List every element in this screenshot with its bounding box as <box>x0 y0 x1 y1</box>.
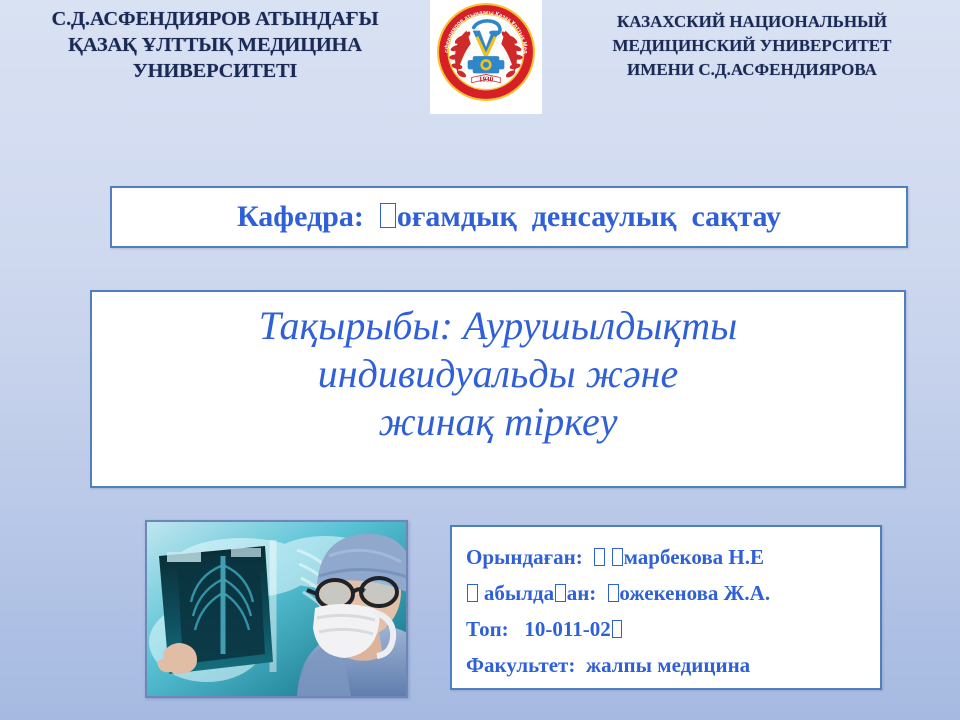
university-name-russian-line-1: КАЗАХСКИЙ НАЦИОНАЛЬНЫЙ <box>552 10 952 34</box>
author-line-supervisor: абылдаан: ожекенова Ж.А. <box>466 575 870 611</box>
missing-glyph-icon <box>555 584 566 602</box>
author-line-performer: Орындаған: марбекова Н.Е <box>466 539 870 575</box>
doctor-reading-xray-photo <box>145 520 408 698</box>
emblem-year: 1930 <box>479 76 494 84</box>
xray-photo-graphic <box>147 522 406 696</box>
author-line-group: Топ: 10-011-02 <box>466 611 870 647</box>
author-line-faculty: Факультет: жалпы медицина <box>466 647 870 683</box>
university-name-russian-line-3: ИМЕНИ С.Д.АСФЕНДИЯРОВА <box>552 58 952 82</box>
university-name-russian: КАЗАХСКИЙ НАЦИОНАЛЬНЫЙ МЕДИЦИНСКИЙ УНИВЕ… <box>552 10 952 82</box>
university-seal-emblem: С.Ж. Асфендияров атындағы Қазақ Ұлттық М… <box>435 1 537 103</box>
slide-header: С.Д.АСФЕНДИЯРОВ АТЫНДАҒЫ ҚАЗАҚ ҰЛТТЫҚ МЕ… <box>0 0 960 116</box>
performer-label: Орындаған: <box>466 545 583 569</box>
missing-glyph-icon <box>380 203 396 229</box>
title-slide: С.Д.АСФЕНДИЯРОВ АТЫНДАҒЫ ҚАЗАҚ ҰЛТТЫҚ МЕ… <box>0 0 960 720</box>
department-box: Кафедра: оғамдық денсаулық сақтау <box>110 186 908 248</box>
university-name-russian-line-2: МЕДИЦИНСКИЙ УНИВЕРСИТЕТ <box>552 34 952 58</box>
authors-box: Орындаған: марбекова Н.Е абылдаан: ожеке… <box>450 525 882 690</box>
topic-line-1: Тақырыбы: Аурушылдықты <box>106 302 890 350</box>
university-name-kazakh-line-2: ҚАЗАҚ ҰЛТТЫҚ МЕДИЦИНА <box>6 32 424 58</box>
group-label: Топ: <box>466 617 509 641</box>
university-name-kazakh-line-1: С.Д.АСФЕНДИЯРОВ АТЫНДАҒЫ <box>6 6 424 32</box>
topic-box: Тақырыбы: Аурушылдықты индивидуальды жән… <box>90 290 906 488</box>
university-name-kazakh: С.Д.АСФЕНДИЯРОВ АТЫНДАҒЫ ҚАЗАҚ ҰЛТТЫҚ МЕ… <box>6 6 424 84</box>
department-text: Кафедра: оғамдық денсаулық сақтау <box>112 200 906 234</box>
authors-list: Орындаған: марбекова Н.Е абылдаан: ожеке… <box>466 539 870 683</box>
missing-glyph-icon <box>594 548 605 566</box>
emblem-plate: С.Ж. Асфендияров атындағы Қазақ Ұлттық М… <box>430 0 542 114</box>
topic-text: Тақырыбы: Аурушылдықты индивидуальды жән… <box>106 302 890 446</box>
university-name-kazakh-line-3: УНИВЕРСИТЕТІ <box>6 58 424 84</box>
missing-glyph-icon <box>612 620 623 638</box>
faculty-value: жалпы медицина <box>586 653 750 677</box>
faculty-label: Факультет: <box>466 653 575 677</box>
missing-glyph-icon <box>467 584 478 602</box>
topic-line-3: жинақ тіркеу <box>106 398 890 446</box>
department-label: Кафедра: <box>237 200 364 233</box>
missing-glyph-icon <box>608 584 619 602</box>
missing-glyph-icon <box>612 548 623 566</box>
topic-line-2: индивидуальды және <box>106 350 890 398</box>
